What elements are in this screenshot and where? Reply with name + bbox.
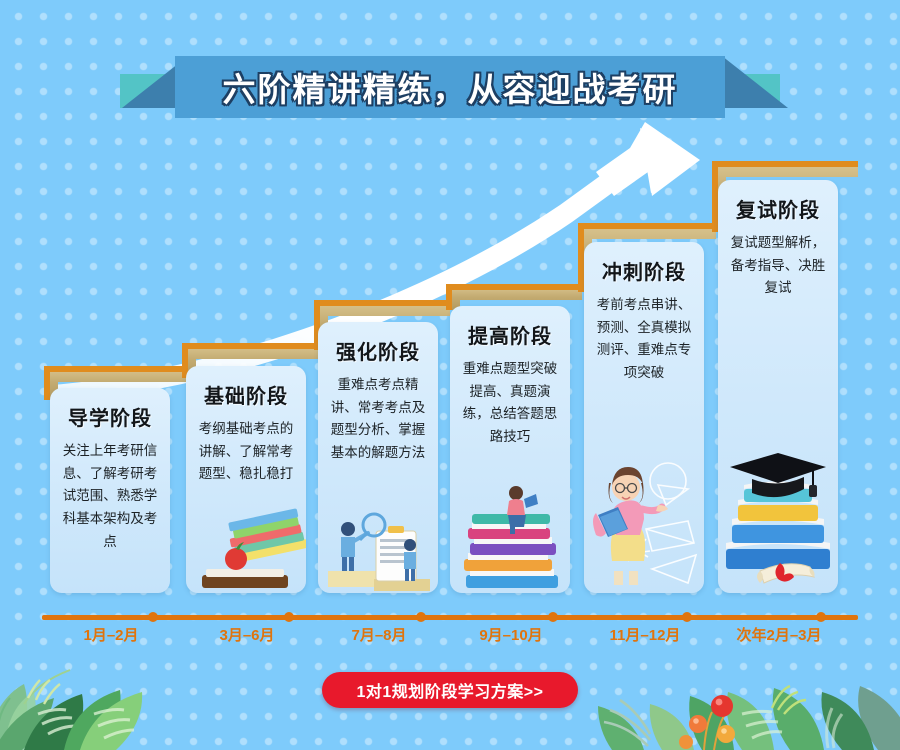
timeline-label-6: 次年2月–3月 <box>704 624 854 645</box>
timeline-label-2: 3月–6月 <box>172 624 322 645</box>
stage-body: 重难点题型突破提高、真题演练，总结答题思路技巧 <box>450 358 570 449</box>
stage-card-4[interactable]: 提高阶段 重难点题型突破提高、真题演练，总结答题思路技巧 <box>450 306 570 593</box>
timeline-dot-6 <box>816 612 826 622</box>
header-banner: 六阶精讲精练，从容迎战考研 <box>0 28 900 104</box>
stage-title: 复试阶段 <box>718 194 838 223</box>
timeline-label-1: 1月–2月 <box>36 624 186 645</box>
stage-body: 关注上年考研信息、了解考研考试范围、熟悉学科基本架构及考点 <box>50 440 170 553</box>
stage-title: 基础阶段 <box>186 380 306 409</box>
stage-body: 重难点考点精讲、常考考点及题型分析、掌握基本的解题方法 <box>318 374 438 465</box>
timeline-dot-2 <box>284 612 294 622</box>
stage-card-2[interactable]: 基础阶段 考纲基础考点的讲解、了解常考题型、稳扎稳打 <box>186 366 306 593</box>
stage-body: 考前考点串讲、预测、全真模拟测评、重难点专项突破 <box>584 294 704 385</box>
timeline-label-3: 7月–8月 <box>304 624 454 645</box>
stage-card-3[interactable]: 强化阶段 重难点考点精讲、常考考点及题型分析、掌握基本的解题方法 <box>318 322 438 593</box>
students-magnifier-icon <box>318 483 438 593</box>
stage-title: 强化阶段 <box>318 336 438 365</box>
timeline <box>42 612 858 622</box>
graduation-cap-books-icon <box>718 453 838 593</box>
page-title: 六阶精讲精练，从容迎战考研 <box>0 56 900 118</box>
berry-orange <box>689 715 707 733</box>
timeline-bar <box>42 615 858 620</box>
stage-card-6[interactable]: 复试阶段 复试题型解析，备考指导、决胜复试 <box>718 180 838 593</box>
stage-body: 考纲基础考点的讲解、了解常考题型、稳扎稳打 <box>186 418 306 486</box>
timeline-dot-1 <box>148 612 158 622</box>
tropical-leaves-berries-icon <box>574 654 900 750</box>
teacher-geometry-icon <box>584 443 704 593</box>
stage-title: 冲刺阶段 <box>584 256 704 285</box>
timeline-dot-3 <box>416 612 426 622</box>
berry-yellow <box>717 725 735 743</box>
stage-card-5[interactable]: 冲刺阶段 考前考点串讲、预测、全真模拟测评、重难点专项突破 <box>584 242 704 593</box>
cta-button[interactable]: 1对1规划阶段学习方案>> <box>322 672 578 708</box>
timeline-dot-5 <box>682 612 692 622</box>
stage-title: 提高阶段 <box>450 320 570 349</box>
tropical-leaves-icon <box>0 654 294 750</box>
timeline-label-5: 11月–12月 <box>570 624 720 645</box>
books-apple-icon <box>186 483 306 593</box>
girl-on-books-icon <box>450 483 570 593</box>
berry-red <box>711 695 733 717</box>
stage-title: 导学阶段 <box>50 402 170 431</box>
berry-small <box>679 735 693 749</box>
stage-card-1[interactable]: 导学阶段 关注上年考研信息、了解考研考试范围、熟悉学科基本架构及考点 <box>50 388 170 593</box>
timeline-dot-4 <box>548 612 558 622</box>
stage-body: 复试题型解析，备考指导、决胜复试 <box>718 232 838 300</box>
poster-canvas: 导学阶段 关注上年考研信息、了解考研考试范围、熟悉学科基本架构及考点 基础阶段 … <box>0 0 900 750</box>
timeline-label-4: 9月–10月 <box>436 624 586 645</box>
